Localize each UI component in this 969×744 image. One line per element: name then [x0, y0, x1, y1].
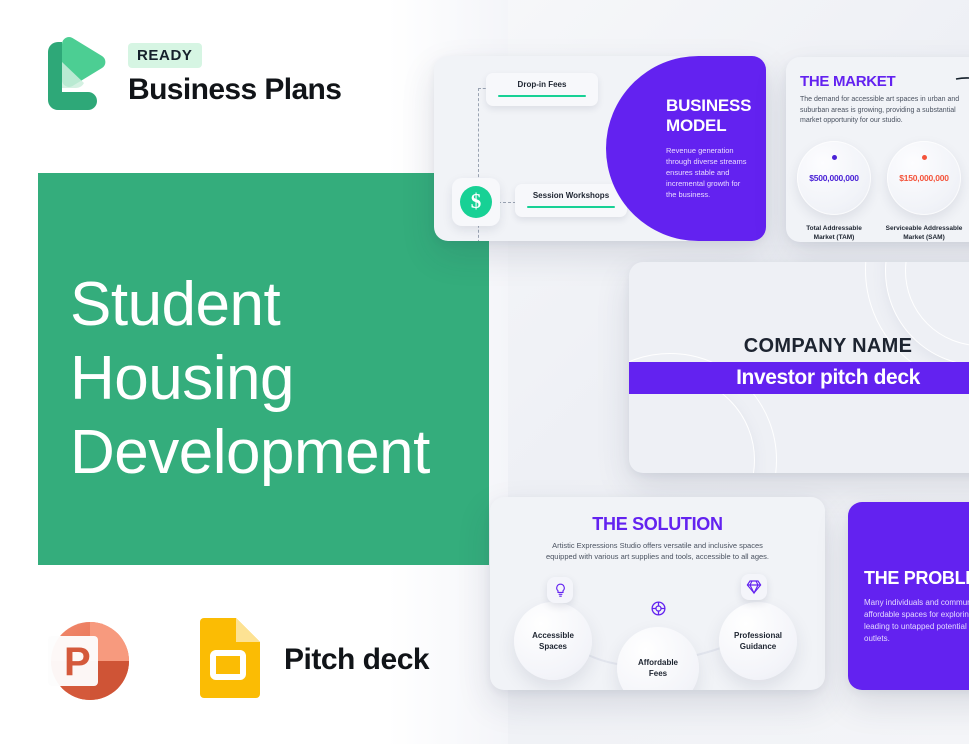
metric-disc: $150,000,000 [887, 141, 961, 215]
format-footer: P Pitch deck [40, 614, 429, 706]
metric-caption-line-1: Serviceable Addressable [882, 224, 966, 233]
metric-dot-icon [832, 155, 837, 160]
brand-name: Business Plans [128, 73, 341, 107]
metric-caption: Serviceable Addressable Market (SAM) [882, 224, 966, 242]
google-slides-icon [194, 618, 260, 702]
slide-title-line-1: BUSINESS [666, 96, 752, 116]
page-title: Student Housing Development [70, 268, 430, 490]
slide-title: THE PROBLEM [864, 568, 969, 589]
metric-caption: Total Addressable Market (TAM) [792, 224, 876, 242]
market-metric: $500,000,000 Total Addressable Market (T… [792, 141, 876, 242]
slide-subtitle-band: Investor pitch deck [629, 362, 969, 394]
solution-item-label: Professional Guidance [734, 630, 782, 652]
diamond-icon [741, 574, 767, 600]
node-underline [527, 206, 615, 208]
metric-value: $500,000,000 [797, 173, 871, 183]
slide-body: Artistic Expressions Studio offers versa… [545, 540, 770, 562]
slide-subtitle: Investor pitch deck [736, 366, 920, 390]
play-triangle-logo-icon [38, 34, 110, 116]
slide-title-line-2: MODEL [666, 116, 752, 136]
lifebuoy-icon [645, 595, 671, 621]
page-title-line-3: Development [70, 416, 430, 490]
slide-the-problem[interactable]: THE PROBLEM Many individuals and communi… [848, 502, 969, 690]
metric-caption-line-2: Market (TAM) [792, 233, 876, 242]
metric-dot-icon [922, 155, 927, 160]
poster-canvas: READY Business Plans Student Housing Dev… [0, 0, 969, 744]
solution-item[interactable]: Professional Guidance [719, 602, 797, 680]
slide-title: THE SOLUTION [490, 514, 825, 535]
slide-body: Many individuals and communities lack ac… [864, 597, 969, 645]
node-label: Session Workshops [527, 191, 615, 200]
brand-logo-text: READY Business Plans [128, 43, 341, 107]
svg-text:P: P [64, 640, 91, 684]
slide-title: BUSINESS MODEL [666, 96, 752, 136]
business-model-node[interactable]: Session Workshops [515, 184, 627, 217]
powerpoint-icon: P [40, 614, 132, 706]
page-title-line-2: Housing [70, 342, 430, 416]
dollar-sign-icon: $ [460, 186, 492, 218]
slide-body: The demand for accessible art spaces in … [800, 95, 964, 127]
node-underline [498, 95, 586, 97]
solution-item-label: Accessible Spaces [532, 630, 574, 652]
slide-title: THE MARKET [800, 73, 895, 90]
solution-item[interactable]: Accessible Spaces [514, 602, 592, 680]
brand-logo[interactable]: READY Business Plans [38, 34, 341, 116]
market-metric: $150,000,000 Serviceable Addressable Mar… [882, 141, 966, 242]
metric-value: $150,000,000 [887, 173, 961, 183]
page-title-line-1: Student [70, 268, 430, 342]
business-model-panel: BUSINESS MODEL Revenue generation throug… [606, 56, 766, 241]
slide-company-name[interactable]: COMPANY NAME Investor pitch deck [629, 262, 969, 473]
dollar-sign-card: $ [452, 178, 500, 226]
metric-caption-line-2: Market (SAM) [882, 233, 966, 242]
slide-the-solution[interactable]: THE SOLUTION Artistic Expressions Studio… [490, 497, 825, 690]
ready-badge: READY [128, 43, 202, 68]
slide-title: COMPANY NAME [629, 335, 969, 358]
lightbulb-icon [547, 577, 573, 603]
slide-business-model[interactable]: Drop-in Fees Session Workshops Commissio… [434, 56, 766, 241]
metric-caption-line-1: Total Addressable [792, 224, 876, 233]
curved-arrow-icon [954, 75, 969, 117]
metric-disc: $500,000,000 [797, 141, 871, 215]
slide-body: Revenue generation through diverse strea… [666, 145, 752, 200]
solution-item-label: Affordable Fees [638, 657, 678, 679]
format-label: Pitch deck [284, 643, 429, 677]
business-model-node[interactable]: Drop-in Fees [486, 73, 598, 106]
node-label: Drop-in Fees [498, 80, 586, 89]
slide-the-market[interactable]: THE MARKET The demand for accessible art… [786, 57, 969, 242]
